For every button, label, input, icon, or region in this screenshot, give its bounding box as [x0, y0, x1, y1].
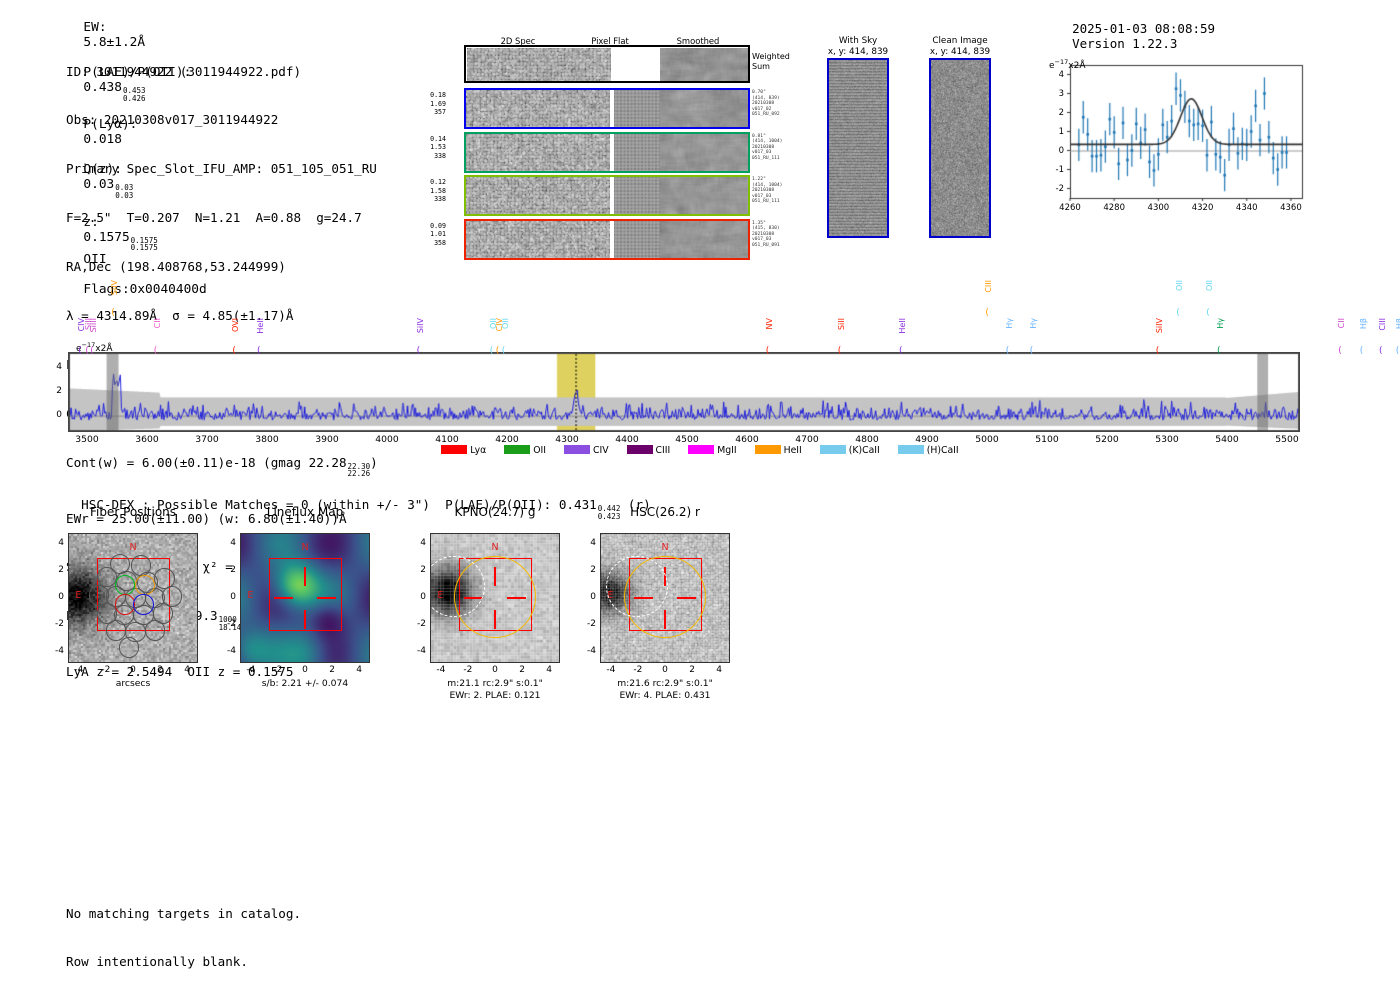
- cutout-xtick: 0: [121, 665, 145, 675]
- legend-item: Lyα: [441, 445, 486, 456]
- emission-line-tick: (: [1217, 346, 1221, 356]
- cutout-xtick: -4: [599, 665, 623, 675]
- emission-line-tick: (: [1379, 346, 1383, 356]
- emission-line-label: Hβ: [1359, 318, 1368, 329]
- legend-label: Lyα: [467, 445, 486, 456]
- cutout-ytick: -2: [218, 619, 236, 629]
- cutout-image-lineflux-map[interactable]: NE: [240, 533, 370, 663]
- emission-line-tick: (: [90, 346, 94, 356]
- spectrum-legend: Lyα OII CIV CIII MgII HeII (K)CaII (H)Ca…: [0, 445, 1400, 456]
- crosshair-marker: [304, 610, 306, 629]
- cutout-ytick: 0: [578, 592, 596, 602]
- emission-line-label: CII: [153, 318, 162, 328]
- cutout-ytick: -4: [46, 646, 64, 656]
- emission-line-tick: (: [766, 346, 770, 356]
- spectrum-xtick: 5200: [1085, 434, 1129, 445]
- legend-item: CIII: [627, 445, 671, 456]
- full-spectrum-plot: [68, 352, 1300, 432]
- cutout-xtick: 4: [707, 665, 731, 675]
- emission-line-tick: (: [838, 346, 842, 356]
- legend-swatch: [820, 445, 846, 454]
- crosshair-marker: [304, 567, 306, 586]
- legend-item: OII: [504, 445, 546, 456]
- compass-north-label: N: [601, 542, 729, 553]
- spectrum-xtick: 3700: [185, 434, 229, 445]
- spectrum-xtick: 4300: [545, 434, 589, 445]
- emission-line-tick: (: [985, 308, 989, 318]
- compass-north-label: N: [69, 542, 197, 553]
- emission-line-label: Hγ: [1029, 318, 1038, 329]
- spectrum-xtick: 3600: [125, 434, 169, 445]
- cutout-ytick: -2: [46, 619, 64, 629]
- cutout-ytick: 2: [578, 565, 596, 575]
- emission-line-tick: (: [1396, 346, 1400, 356]
- emission-line-label: SiII: [837, 318, 846, 330]
- legend-item: CIV: [564, 445, 609, 456]
- cont-w-lo: 22.26: [348, 470, 371, 478]
- cont-w-post: ): [370, 455, 378, 470]
- legend-swatch: [564, 445, 590, 454]
- cutout-xtick: -2: [456, 665, 480, 675]
- spectrum-xtick: 3800: [245, 434, 289, 445]
- cutout-xtick: 2: [510, 665, 534, 675]
- cutout-xtick: 4: [537, 665, 561, 675]
- footer-note: No matching targets in catalog. Row inte…: [66, 873, 301, 987]
- emission-line-tick: (: [417, 346, 421, 356]
- emission-line-label: CIII: [984, 280, 993, 293]
- compass-north-label: N: [241, 542, 369, 553]
- emission-line-label: NV: [765, 318, 774, 329]
- spectrum-xtick: 4500: [665, 434, 709, 445]
- legend-item: MgII: [688, 445, 736, 456]
- fiber-circle[interactable]: [145, 620, 165, 640]
- cutout-ytick: 2: [408, 565, 426, 575]
- spectrum-xtick: 4800: [845, 434, 889, 445]
- cutout-image-kpno-g[interactable]: NE: [430, 533, 560, 663]
- legend-item: (H)CaII: [898, 445, 959, 456]
- emission-line-label: OII: [1205, 280, 1214, 291]
- cutout-image-hsc-r[interactable]: NE: [600, 533, 730, 663]
- emission-line-label: OII: [501, 318, 510, 329]
- highlighted-fiber-circle[interactable]: [133, 594, 153, 614]
- emission-line-label: OII: [1175, 280, 1184, 291]
- emission-line-tick: (: [111, 308, 115, 318]
- cutout-ytick: -2: [408, 619, 426, 629]
- cutout-title: HSC(26.2) r: [575, 505, 755, 519]
- cutout-caption: s/b: 2.21 +/- 0.074: [215, 678, 395, 690]
- emission-line-tick: (: [490, 346, 494, 356]
- spectrum-xtick: 3900: [305, 434, 349, 445]
- legend-label: (K)CaII: [846, 445, 880, 456]
- cutout-caption: m:21.6 rc:2.9" s:0.1": [575, 678, 755, 690]
- cutout-caption: EWr: 4. PLAE: 0.431: [575, 690, 755, 702]
- emission-line-tick: (: [232, 346, 236, 356]
- emission-line-tick: (: [1338, 346, 1342, 356]
- cont-w-line: Cont(w) = 6.00(±0.11)e-18 (gmag 22.2822.…: [66, 455, 378, 478]
- cutout-ytick: 4: [578, 538, 596, 548]
- spectrum-line-labels: CIV(SiII(SiIII(CII(OVI(HeII(SiIV(OII(CIV…: [0, 0, 1400, 360]
- cutout-ytick: 0: [46, 592, 64, 602]
- spectrum-xtick: 4400: [605, 434, 649, 445]
- emission-line-label: HeII: [256, 318, 265, 334]
- cutout-ytick: 4: [408, 538, 426, 548]
- emission-line-label: CII: [1337, 318, 1346, 328]
- cutout-ytick: 2: [218, 565, 236, 575]
- spectrum-xtick: 5500: [1265, 434, 1309, 445]
- emission-line-tick: (: [899, 346, 903, 356]
- cutout-ytick: 4: [46, 538, 64, 548]
- cutout-caption: m:21.1 rc:2.9" s:0.1": [405, 678, 585, 690]
- cutout-xtick: -4: [429, 665, 453, 675]
- legend-label: OII: [530, 445, 546, 456]
- cutout-ytick: -4: [218, 646, 236, 656]
- emission-line-label: Hγ: [1005, 318, 1014, 329]
- emission-line-tick: (: [78, 346, 82, 356]
- fiber-circle[interactable]: [119, 637, 139, 657]
- emission-line-label: Hγ: [1216, 318, 1225, 329]
- cutout-xtick: 4: [347, 665, 371, 675]
- spectrum-ytick: 0: [44, 410, 62, 420]
- cutout-ytick: -4: [578, 646, 596, 656]
- cutout-xtick: 4: [175, 665, 199, 675]
- emission-line-tick: (: [1006, 346, 1010, 356]
- cutout-xtick: 2: [680, 665, 704, 675]
- emission-line-tick: (: [1156, 346, 1160, 356]
- cutout-ytick: 2: [46, 565, 64, 575]
- legend-item: (K)CaII: [820, 445, 880, 456]
- legend-label: MgII: [714, 445, 736, 456]
- compass-east-label: E: [247, 590, 253, 601]
- compass-north-label: N: [431, 542, 559, 553]
- legend-label: CIV: [590, 445, 609, 456]
- cutout-ytick: 0: [218, 592, 236, 602]
- highlighted-fiber-circle[interactable]: [135, 575, 155, 595]
- emission-line-label: SiIV: [110, 280, 119, 295]
- cutout-title: Lineflux Map: [215, 505, 395, 519]
- cutout-title: KPNO(24.7) g: [405, 505, 585, 519]
- legend-swatch: [627, 445, 653, 454]
- cutout-ytick: 4: [218, 538, 236, 548]
- compass-east-label: E: [75, 590, 81, 601]
- spectrum-xtick: 5400: [1205, 434, 1249, 445]
- cutout-xtick: -2: [266, 665, 290, 675]
- cutout-xtick: -4: [67, 665, 91, 675]
- emission-line-tick: (: [1206, 308, 1210, 318]
- cutout-ytick: -2: [578, 619, 596, 629]
- cutout-image-fiber-positions[interactable]: NE: [68, 533, 198, 663]
- emission-line-tick: (: [85, 346, 89, 356]
- emission-line-label: Hβ: [1395, 318, 1400, 329]
- legend-swatch: [898, 445, 924, 454]
- spectrum-xtick: 4200: [485, 434, 529, 445]
- cutout-xtick: -2: [626, 665, 650, 675]
- spectrum-xtick: 5100: [1025, 434, 1069, 445]
- legend-item: HeII: [755, 445, 802, 456]
- legend-label: HeII: [781, 445, 802, 456]
- legend-swatch: [688, 445, 714, 454]
- cutout-xtick: -4: [239, 665, 263, 675]
- cutout-ytick: 0: [408, 592, 426, 602]
- emission-line-label: SiIV: [416, 318, 425, 333]
- spectrum-xtick: 5000: [965, 434, 1009, 445]
- cutout-xtick: 2: [148, 665, 172, 675]
- cutout-panel-group: Fiber PositionsNE-4-2024-4-2024arcsecsLi…: [0, 505, 1400, 745]
- emission-line-tick: (: [154, 346, 158, 356]
- emission-line-label: SiIV: [1155, 318, 1164, 333]
- legend-swatch: [755, 445, 781, 454]
- cutout-xtick: 0: [483, 665, 507, 675]
- spectrum-xtick: 5300: [1145, 434, 1189, 445]
- emission-line-tick: (: [496, 346, 500, 356]
- emission-line-label: CIII: [1378, 318, 1387, 331]
- cutout-xlabel: arcsecs: [43, 678, 223, 690]
- cutout-ytick: -4: [408, 646, 426, 656]
- cont-w-pre: Cont(w) = 6.00(±0.11)e-18 (gmag 22.28: [66, 455, 347, 470]
- cutout-caption: EWr: 2. PLAE: 0.121: [405, 690, 585, 702]
- footer-line-2: Row intentionally blank.: [66, 954, 301, 970]
- emission-line-label: HeII: [898, 318, 907, 334]
- spectrum-xtick: 4000: [365, 434, 409, 445]
- cutout-xtick: 0: [653, 665, 677, 675]
- spectrum-xtick: 4100: [425, 434, 469, 445]
- spectrum-xtick: 4700: [785, 434, 829, 445]
- legend-label: (H)CaII: [924, 445, 959, 456]
- neighbor-circle: [606, 556, 667, 617]
- emission-line-label: SiIII: [89, 318, 98, 332]
- spectrum-ytick: 2: [44, 386, 62, 396]
- legend-swatch: [504, 445, 530, 454]
- cutout-xtick: 2: [320, 665, 344, 675]
- emission-line-tick: (: [257, 346, 261, 356]
- emission-line-tick: (: [1360, 346, 1364, 356]
- legend-swatch: [441, 445, 467, 454]
- cutout-xtick: 0: [293, 665, 317, 675]
- emission-line-label: OVI: [231, 318, 240, 332]
- spectrum-xtick: 3500: [65, 434, 109, 445]
- cutout-title: Fiber Positions: [43, 505, 223, 519]
- emission-line-tick: (: [1030, 346, 1034, 356]
- cutout-xtick: -2: [94, 665, 118, 675]
- spectrum-xtick: 4900: [905, 434, 949, 445]
- emission-line-tick: (: [1176, 308, 1180, 318]
- crosshair-marker: [317, 597, 336, 599]
- footer-line-1: No matching targets in catalog.: [66, 906, 301, 922]
- spectrum-xtick: 4600: [725, 434, 769, 445]
- spectrum-ytick: 4: [44, 362, 62, 372]
- crosshair-marker: [274, 597, 293, 599]
- emission-line-tick: (: [502, 346, 506, 356]
- legend-label: CIII: [653, 445, 671, 456]
